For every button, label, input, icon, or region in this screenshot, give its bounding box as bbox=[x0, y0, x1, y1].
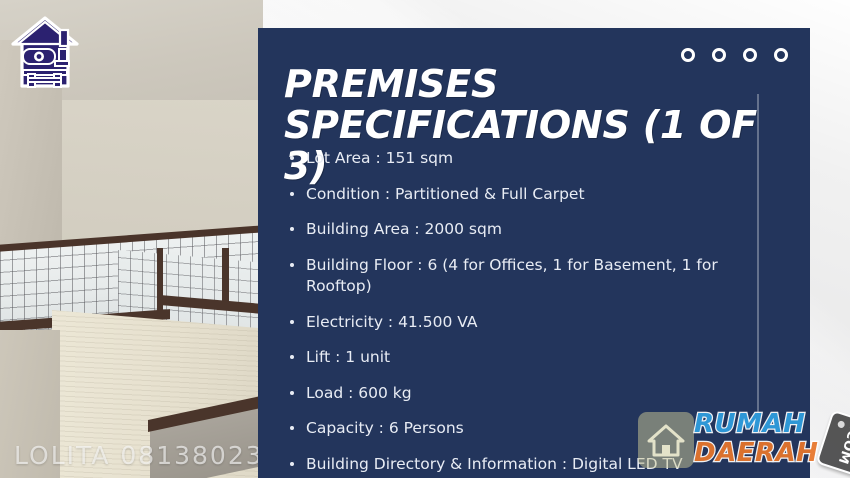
page-title-line-1: PREMISES bbox=[284, 62, 498, 106]
dot-indicator-2[interactable] bbox=[712, 48, 726, 62]
loli-house-logo bbox=[10, 14, 80, 94]
list-item: Building Floor : 6 (4 for Offices, 1 for… bbox=[286, 255, 786, 298]
watermark-line-2: DAERAH bbox=[694, 439, 818, 468]
list-item: Condition : Partitioned & Full Carpet bbox=[286, 184, 786, 205]
list-item: Lot Area : 151 sqm bbox=[286, 148, 786, 169]
photo-watermark-text: LOLITA 081380235472 bbox=[14, 441, 263, 470]
slide-canvas: LOLITA 081380235472 bbox=[0, 0, 850, 478]
watermark-line-1: RUMAH bbox=[694, 410, 818, 439]
dot-indicator-4[interactable] bbox=[774, 48, 788, 62]
list-item: Building Area : 2000 sqm bbox=[286, 219, 786, 240]
dot-com-tag-icon: .COM bbox=[816, 410, 850, 478]
rumahdaerah-watermark: RUMAH DAERAH .COM bbox=[638, 408, 843, 472]
house-icon bbox=[638, 412, 694, 468]
dot-indicator-1[interactable] bbox=[681, 48, 695, 62]
list-item: Electricity : 41.500 VA bbox=[286, 312, 786, 333]
partition-mullion-1 bbox=[157, 248, 163, 326]
partition-mullion-2 bbox=[222, 248, 229, 310]
watermark-tag-label: .COM bbox=[835, 422, 850, 465]
page-dot-indicators[interactable] bbox=[681, 48, 788, 62]
dot-indicator-3[interactable] bbox=[743, 48, 757, 62]
list-item: Load : 600 kg bbox=[286, 383, 786, 404]
list-item: Lift : 1 unit bbox=[286, 347, 786, 368]
watermark-wordmark: RUMAH DAERAH bbox=[694, 410, 818, 468]
